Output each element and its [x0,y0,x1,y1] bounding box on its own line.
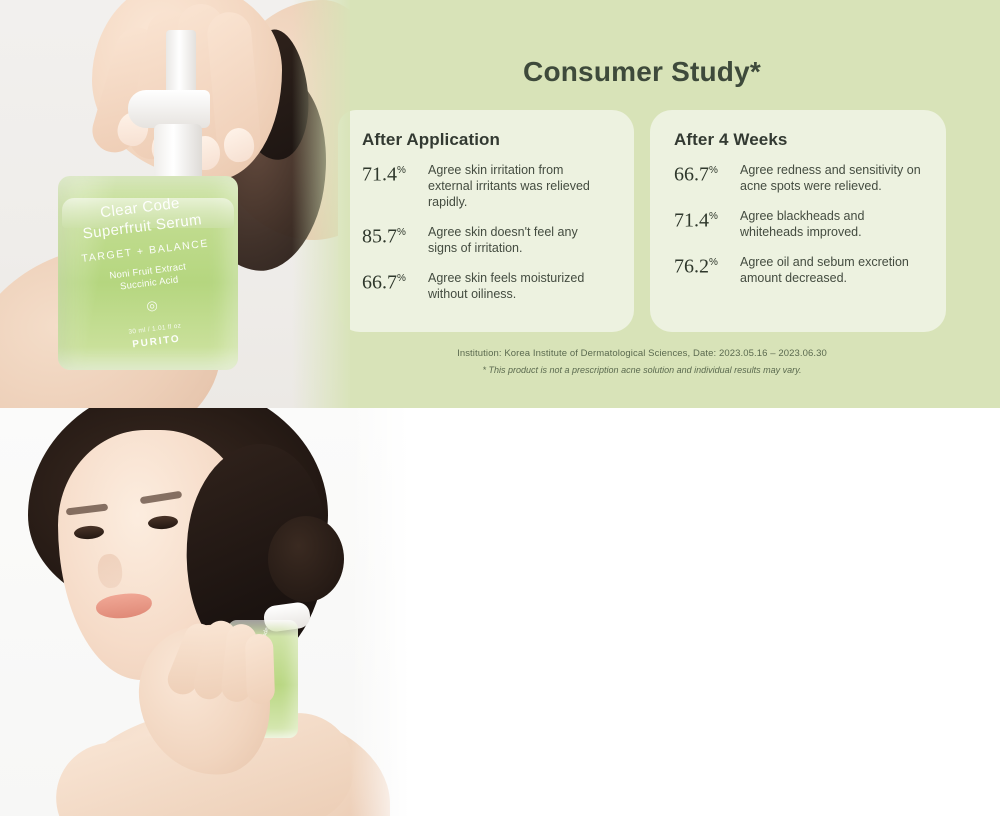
stat-description: Agree skin doesn't feel any signs of irr… [428,223,610,256]
percent-sign: % [709,165,718,176]
serum-bottle: Clear Code Superfruit Serum TARGET + BAL… [58,140,238,370]
footnote-disclaimer: * This product is not a prescription acn… [340,365,944,375]
card-heading: After Application [362,130,610,150]
stat-row: 66.7% Agree redness and sensitivity on a… [674,161,922,194]
card-after-4-weeks: After 4 Weeks 66.7% Agree redness and se… [650,110,946,332]
stat-description: Agree blackheads and whiteheads improved… [740,207,922,240]
model-photo-right-fade [350,408,420,816]
model-hair-bun-shape [268,516,344,602]
stat-number: 66.7 [674,164,709,186]
stat-row: 85.7% Agree skin doesn't feel any signs … [362,223,610,256]
footnote-institution: Institution: Korea Institute of Dermatol… [340,348,944,359]
stat-value: 66.7% [674,161,740,185]
promo-page: Clear Code Superfruit Serum TARGET + BAL… [0,0,1000,816]
stat-number: 66.7 [362,272,397,294]
stat-description: Agree skin irritation from external irri… [428,161,610,210]
product-photo: Clear Code Superfruit Serum TARGET + BAL… [0,0,350,408]
percent-sign: % [397,273,406,284]
percent-sign: % [709,211,718,222]
stat-value: 71.4% [674,207,740,231]
bottle-label: Clear Code Superfruit Serum TARGET + BAL… [50,188,247,359]
stat-description: Agree skin feels moisturized without oil… [428,269,610,302]
photo-right-fade [292,0,350,408]
page-title: Consumer Study* [340,56,944,88]
study-cards: After Application 71.4% Agree skin irrit… [338,110,946,332]
stat-row: 76.2% Agree oil and sebum excretion amou… [674,253,922,286]
stat-value: 66.7% [362,269,428,293]
stat-row: 71.4% Agree skin irritation from externa… [362,161,610,210]
stat-description: Agree redness and sensitivity on acne sp… [740,161,922,194]
stat-row: 66.7% Agree skin feels moisturized witho… [362,269,610,302]
model-photo: Clear Code [0,408,420,816]
card-heading: After 4 Weeks [674,130,922,150]
stat-number: 85.7 [362,226,397,248]
percent-sign: % [709,257,718,268]
stat-row: 71.4% Agree blackheads and whiteheads im… [674,207,922,240]
stat-number: 76.2 [674,256,709,278]
card-after-application: After Application 71.4% Agree skin irrit… [338,110,634,332]
percent-sign: % [397,227,406,238]
benefits-section: Clear Code Balance the Skin’s Microbiome… [0,408,1000,816]
bottle-pump-head [128,90,210,128]
consumer-study-section: Clear Code Superfruit Serum TARGET + BAL… [0,0,1000,408]
stat-number: 71.4 [362,164,397,186]
stat-value: 85.7% [362,223,428,247]
stat-value: 71.4% [362,161,428,185]
stat-value: 76.2% [674,253,740,277]
model-finger-shape [245,634,275,705]
stat-number: 71.4 [674,210,709,232]
percent-sign: % [397,165,406,176]
stat-description: Agree oil and sebum excretion amount dec… [740,253,922,286]
study-footnotes: Institution: Korea Institute of Dermatol… [340,348,944,375]
